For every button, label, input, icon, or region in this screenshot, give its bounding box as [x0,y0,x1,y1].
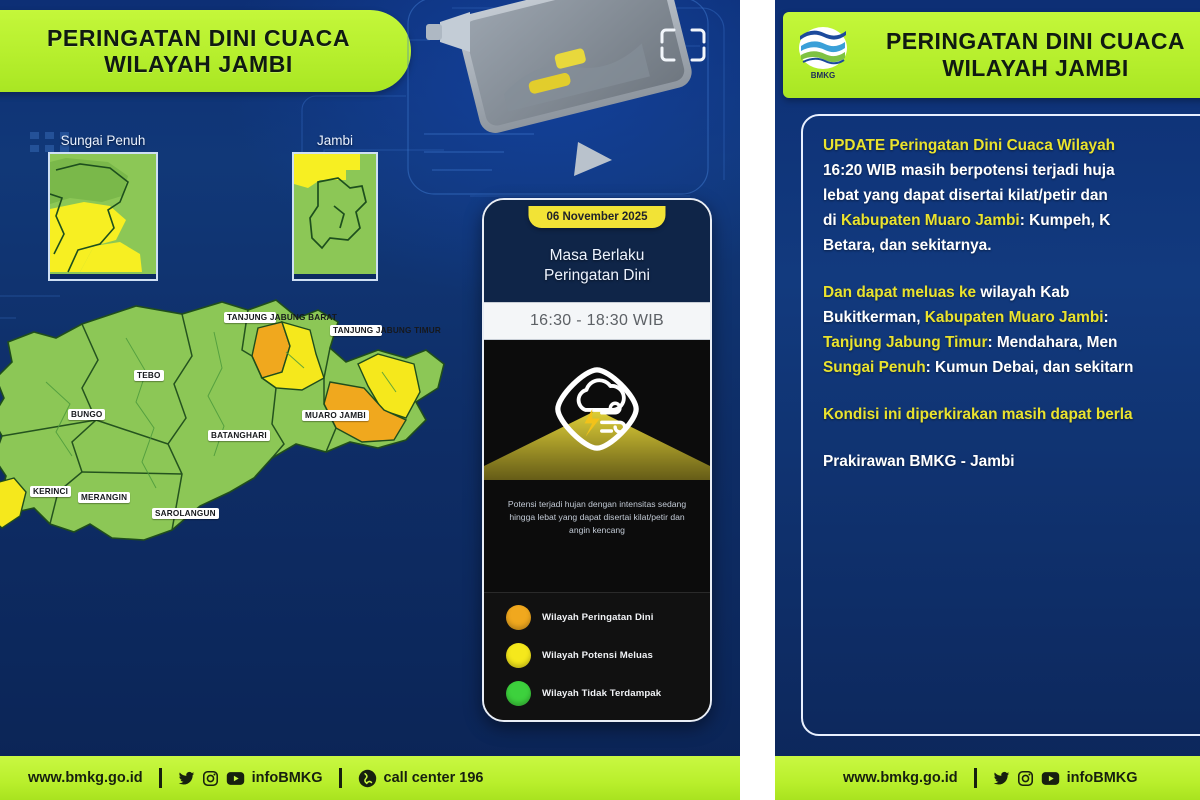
warning-p2-line4-rest: : Kumun Debai, dan sekitarn [926,359,1134,376]
warning-p1-line2: 16:20 WIB masih berpotensi terjadi huja [823,159,1200,184]
warning-p2-line3-region: Tanjung Jabung Timur [823,334,987,351]
legend-label-warning: Wilayah Peringatan Dini [542,612,654,623]
warning-p1-line4-pre: di [823,212,841,229]
warning-p2-line1-hl: Dan dapat meluas ke [823,284,976,301]
footer-divider-1 [159,768,162,788]
warning-p1-line1: UPDATE Peringatan Dini Cuaca Wilayah [823,137,1115,154]
legend-item-safe: Wilayah Tidak Terdampak [506,681,710,706]
warning-p1-line4-region: Kabupaten Muaro Jambi [841,212,1020,229]
warning-text-body: UPDATE Peringatan Dini Cuaca Wilayah 16:… [801,114,1200,736]
cloud-shape [579,381,624,411]
inset-caption-jambi: Jambi [292,133,378,148]
legend-item-warning: Wilayah Peringatan Dini [506,605,710,630]
warning-p1-line3: lebat yang dapat disertai kilat/petir da… [823,184,1200,209]
warning-triangle-icon [574,142,612,176]
phone-illustration [402,0,732,199]
weather-icon-caption: Potensi terjadi hujan dengan intensitas … [496,498,698,537]
inset-map-jambi: Jambi [292,133,378,281]
right-title-line2: WILAYAH JAMBI [942,55,1128,82]
bmkg-logo-mark [798,26,848,70]
sungai-penuh-map-shape [50,154,156,274]
jambi-province-map: TANJUNG JABUNG BARAT TANJUNG JABUNG TIMU… [0,292,456,582]
legend-label-potential: Wilayah Potensi Meluas [542,650,653,661]
validity-line1: Masa Berlaku [496,246,698,266]
inset-map-sungai-penuh: Sungai Penuh [48,133,158,281]
left-footer: www.bmkg.go.id infoBMKG ca [0,756,740,800]
inset-map-box [48,152,158,281]
lightning-bolt-shape [585,409,600,437]
wind-lines [602,404,625,433]
right-title-line1: PERINGATAN DINI CUACA [886,28,1185,55]
map-label-tanjung-jabung-barat: TANJUNG JABUNG BARAT [224,312,276,323]
left-title-line1: PERINGATAN DINI CUACA [47,25,350,51]
warning-detail-card: 06 November 2025 Masa Berlaku Peringatan… [482,198,712,722]
legend-dot-yellow [506,643,531,668]
map-label-tanjung-jabung-timur: TANJUNG JABUNG TIMUR [330,325,382,336]
footer-divider-2 [339,768,342,788]
warning-paragraph-2: Dan dapat meluas ke wilayah Kab Bukitker… [823,281,1200,381]
jambi-map-shape [294,154,376,274]
inset-caption-sungai-penuh: Sungai Penuh [48,133,158,148]
card-header: 06 November 2025 Masa Berlaku Peringatan… [484,200,710,302]
legend-dot-green [506,681,531,706]
warning-p2-line3-rest: : Mendahara, Men [987,334,1117,351]
infographic-screenshot: PERINGATAN DINI CUACA WILAYAH JAMBI [0,0,1200,800]
footer-social-handle-right: infoBMKG [1067,770,1138,786]
validity-title: Masa Berlaku Peringatan Dini [496,246,698,286]
twitter-icon[interactable] [178,770,195,787]
instagram-icon[interactable] [1017,770,1034,787]
left-title-banner: PERINGATAN DINI CUACA WILAYAH JAMBI [0,10,411,92]
footer-social-handle: infoBMKG [252,770,323,786]
bmkg-logo-label: BMKG [811,71,835,80]
footer-divider-right [974,768,977,788]
youtube-icon[interactable] [1041,770,1060,787]
instagram-icon[interactable] [202,770,219,787]
megaphone-icon [426,12,470,52]
legend-dot-orange [506,605,531,630]
warning-p1-line5: Betara, dan sekitarnya. [823,234,1200,259]
legend-label-safe: Wilayah Tidak Terdampak [542,688,661,699]
validity-time-range: 16:30 - 18:30 WIB [484,302,710,340]
right-header-banner: BMKG PERINGATAN DINI CUACA WILAYAH JAMBI [783,12,1200,98]
footer-social-right[interactable]: infoBMKG [993,770,1138,787]
twitter-icon[interactable] [993,770,1010,787]
phone-device [454,0,695,136]
warning-paragraph-1: UPDATE Peringatan Dini Cuaca Wilayah 16:… [823,134,1200,259]
warning-p4: Prakirawan BMKG - Jambi [823,450,1200,475]
map-label-merangin: MERANGIN [78,492,130,503]
map-label-tebo: TEBO [134,370,164,381]
warning-p2-line2-post: : [1104,309,1109,326]
youtube-icon[interactable] [226,770,245,787]
right-panel: BMKG PERINGATAN DINI CUACA WILAYAH JAMBI… [775,0,1200,800]
left-title-line2: WILAYAH JAMBI [104,51,293,77]
warning-p3: Kondisi ini diperkirakan masih dapat ber… [823,403,1200,428]
thunderstorm-wind-icon [554,366,640,452]
footer-call-center[interactable]: call center 196 [358,769,484,788]
map-label-sarolangun: SAROLANGUN [152,508,219,519]
footer-website[interactable]: www.bmkg.go.id [28,770,143,786]
footer-website-label: www.bmkg.go.id [28,770,143,786]
left-panel: PERINGATAN DINI CUACA WILAYAH JAMBI [0,0,740,800]
legend-item-potential: Wilayah Potensi Meluas [506,643,710,668]
weather-icon-zone: Potensi terjadi hujan dengan intensitas … [484,340,710,592]
map-label-kerinci: KERINCI [30,486,71,497]
footer-website-label-right: www.bmkg.go.id [843,770,958,786]
footer-call-center-label: call center 196 [384,770,484,786]
warning-p2-line1-rest: wilayah Kab [976,284,1069,301]
warning-p2-line4-region: Sungai Penuh [823,359,926,376]
warning-p2-line2-pre: Bukitkerman, [823,309,925,326]
bmkg-logo: BMKG [797,26,849,84]
map-label-bungo: BUNGO [68,409,105,420]
map-legend: Wilayah Peringatan Dini Wilayah Potensi … [484,592,710,720]
map-label-batanghari: BATANGHARI [208,430,270,441]
warning-p1-line4-post: : Kumpeh, K [1020,212,1111,229]
phone-icon[interactable] [358,769,377,788]
date-badge: 06 November 2025 [528,206,665,228]
validity-line2: Peringatan Dini [496,266,698,286]
warning-p2-line2-region: Kabupaten Muaro Jambi [925,309,1104,326]
right-footer: www.bmkg.go.id infoBMKG [775,756,1200,800]
warning-signature: Prakirawan BMKG - Jambi [823,450,1200,475]
map-label-muaro-jambi: MUARO JAMBI [302,410,369,421]
footer-website-right[interactable]: www.bmkg.go.id [843,770,958,786]
inset-map-box [292,152,378,281]
warning-paragraph-3: Kondisi ini diperkirakan masih dapat ber… [823,403,1200,428]
footer-social[interactable]: infoBMKG [178,770,323,787]
